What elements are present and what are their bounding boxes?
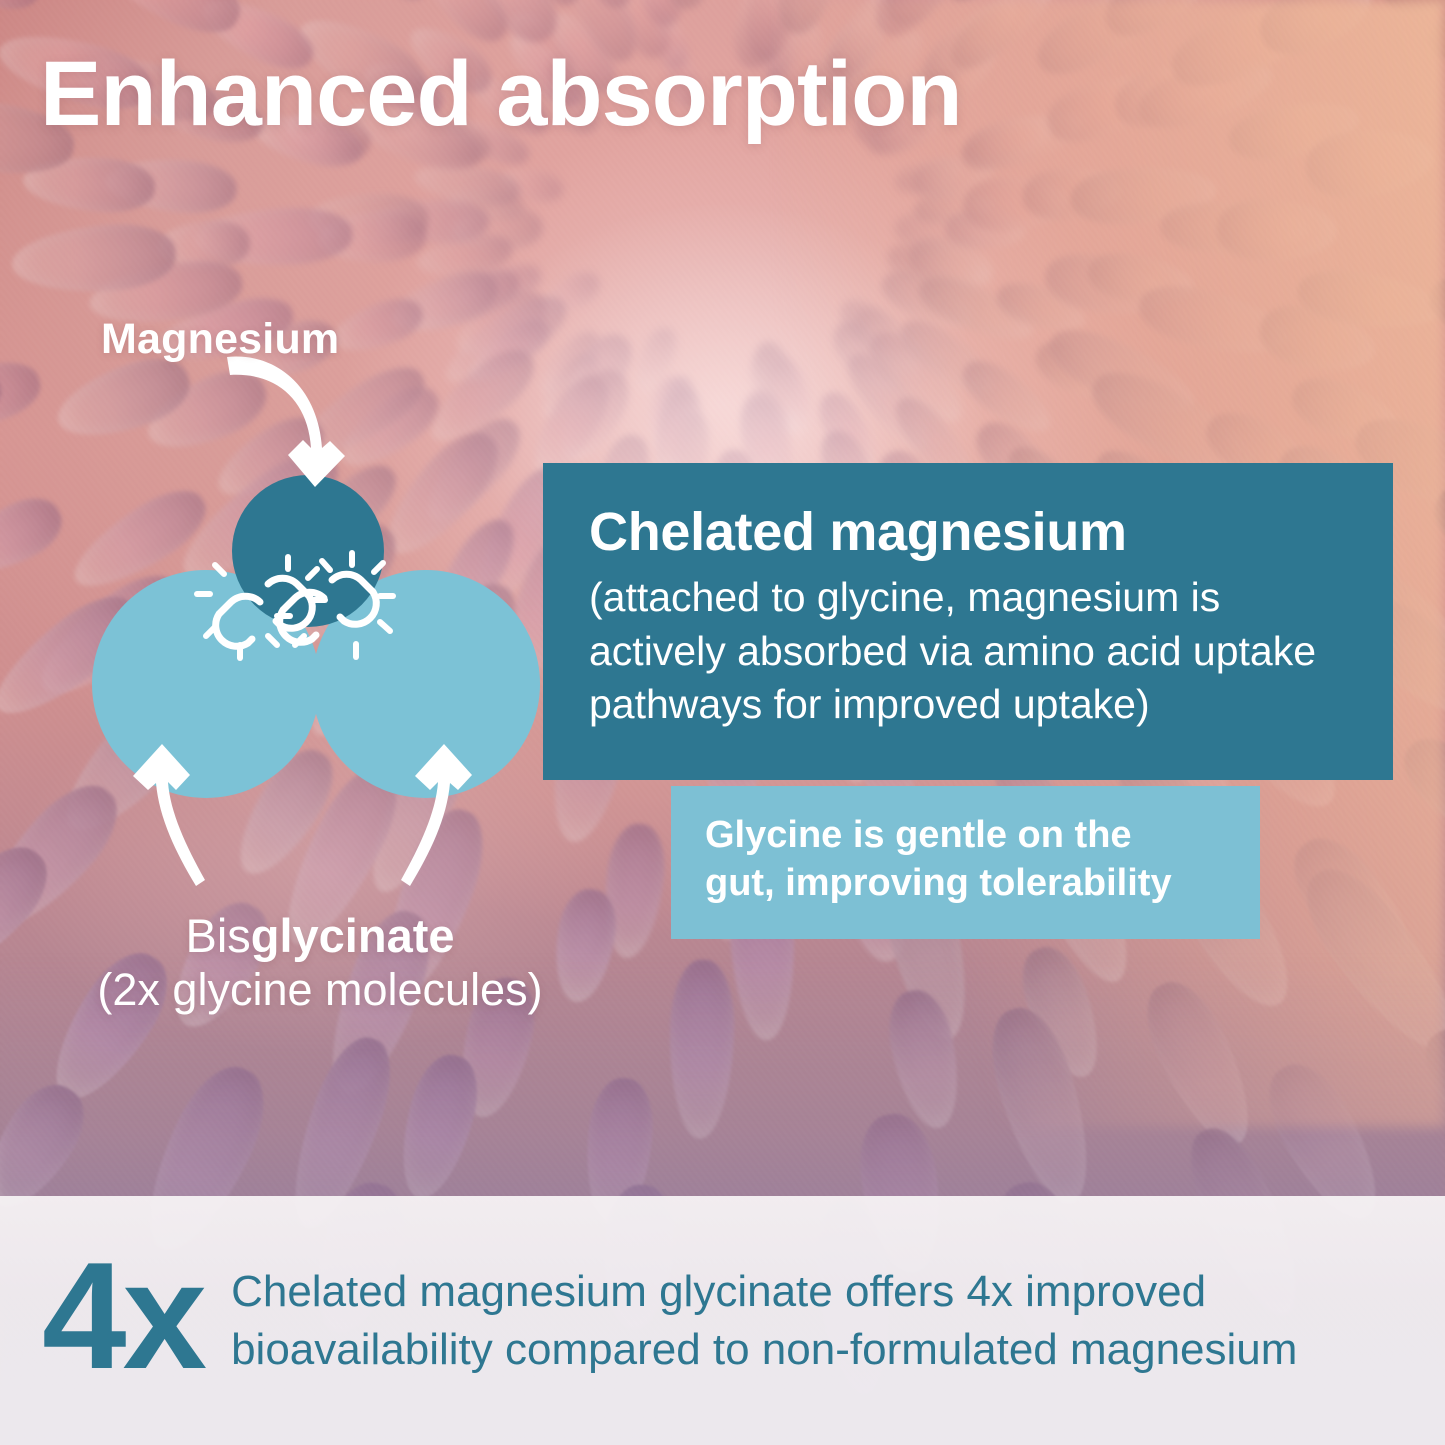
magnesium-label: Magnesium bbox=[101, 315, 339, 364]
magnesium-circle bbox=[232, 475, 384, 627]
multiplier-value: 4x bbox=[42, 1254, 203, 1379]
glycine-tolerability-line2: gut, improving tolerability bbox=[705, 862, 1172, 904]
banner-text-line2: bioavailability compared to non-formulat… bbox=[231, 1321, 1297, 1378]
chelated-magnesium-body: (attached to glycine, magnesium is activ… bbox=[589, 571, 1347, 731]
page-title: Enhanced absorption bbox=[40, 48, 962, 140]
chelated-magnesium-panel: Chelated magnesium (attached to glycine,… bbox=[543, 463, 1393, 780]
bisglycinate-bold: glycinate bbox=[251, 909, 455, 962]
bisglycinate-sublabel: (2x glycine molecules) bbox=[0, 963, 640, 1016]
glycine-tolerability-body: Glycine is gentle on the gut, improving … bbox=[705, 812, 1226, 908]
bisglycinate-prefix: Bis bbox=[185, 909, 250, 962]
bisglycinate-label: Bisglycinate (2x glycine molecules) bbox=[0, 910, 640, 1016]
glycine-tolerability-line1: Glycine is gentle on the bbox=[705, 814, 1132, 856]
banner-text-line1: Chelated magnesium glycinate offers 4x i… bbox=[231, 1263, 1297, 1320]
infographic-canvas: Enhanced absorption bbox=[0, 0, 1445, 1445]
chelated-magnesium-heading: Chelated magnesium bbox=[589, 503, 1347, 561]
glycine-tolerability-panel: Glycine is gentle on the gut, improving … bbox=[671, 786, 1260, 939]
banner-text: Chelated magnesium glycinate offers 4x i… bbox=[231, 1263, 1315, 1377]
bioavailability-banner: 4x Chelated magnesium glycinate offers 4… bbox=[0, 1196, 1445, 1445]
bisglycinate-label-line1: Bisglycinate bbox=[0, 910, 640, 963]
